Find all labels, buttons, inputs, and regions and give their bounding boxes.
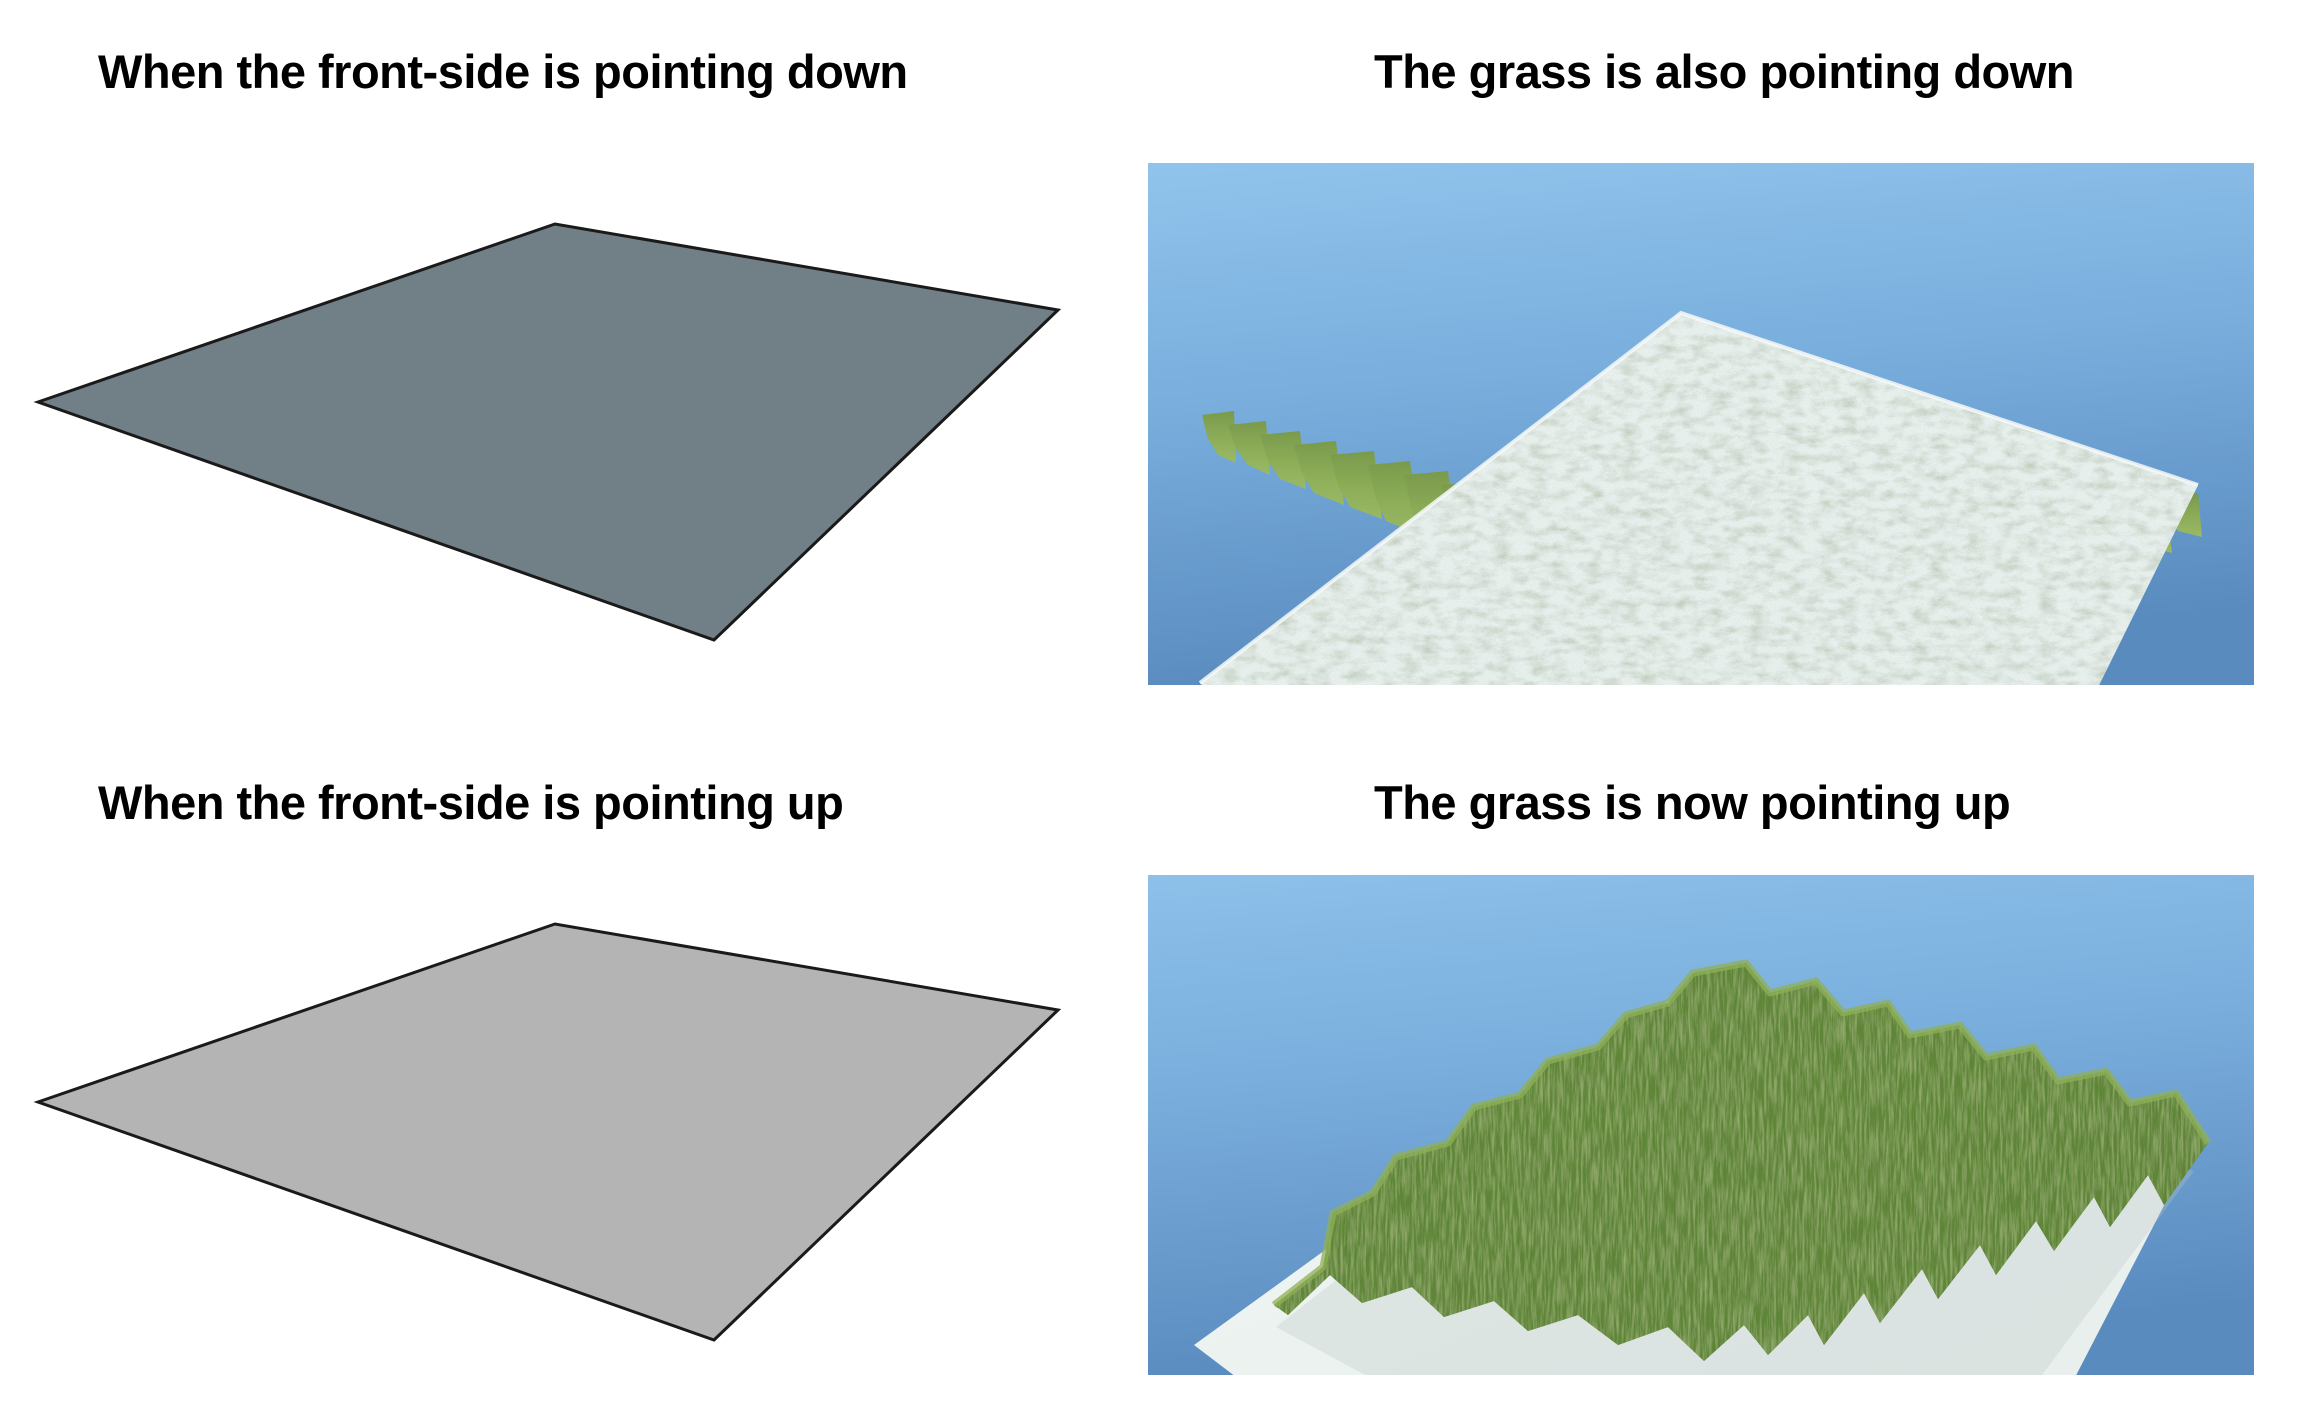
render-grass-down-svg	[1148, 163, 2254, 685]
plane-quad-front-side-down	[38, 224, 1058, 640]
quad-diagram-up-svg	[0, 840, 1148, 1400]
panel-title-top-left: When the front-side is pointing down	[98, 48, 908, 95]
figure-root: When the front-side is pointing down The…	[0, 0, 2304, 1428]
quad-diagram-down-svg	[0, 140, 1148, 700]
render-grass-up-svg	[1148, 875, 2254, 1375]
panel-title-top-right: The grass is also pointing down	[1374, 48, 2074, 95]
render-panel-grass-down	[1148, 163, 2254, 685]
render-panel-grass-up	[1148, 875, 2254, 1375]
panel-title-bottom-left: When the front-side is pointing up	[98, 779, 843, 826]
panel-title-bottom-right: The grass is now pointing up	[1374, 779, 2010, 826]
diagram-panel-front-side-down	[0, 140, 1148, 700]
diagram-panel-front-side-up	[0, 840, 1148, 1400]
plane-quad-front-side-up	[38, 924, 1058, 1340]
